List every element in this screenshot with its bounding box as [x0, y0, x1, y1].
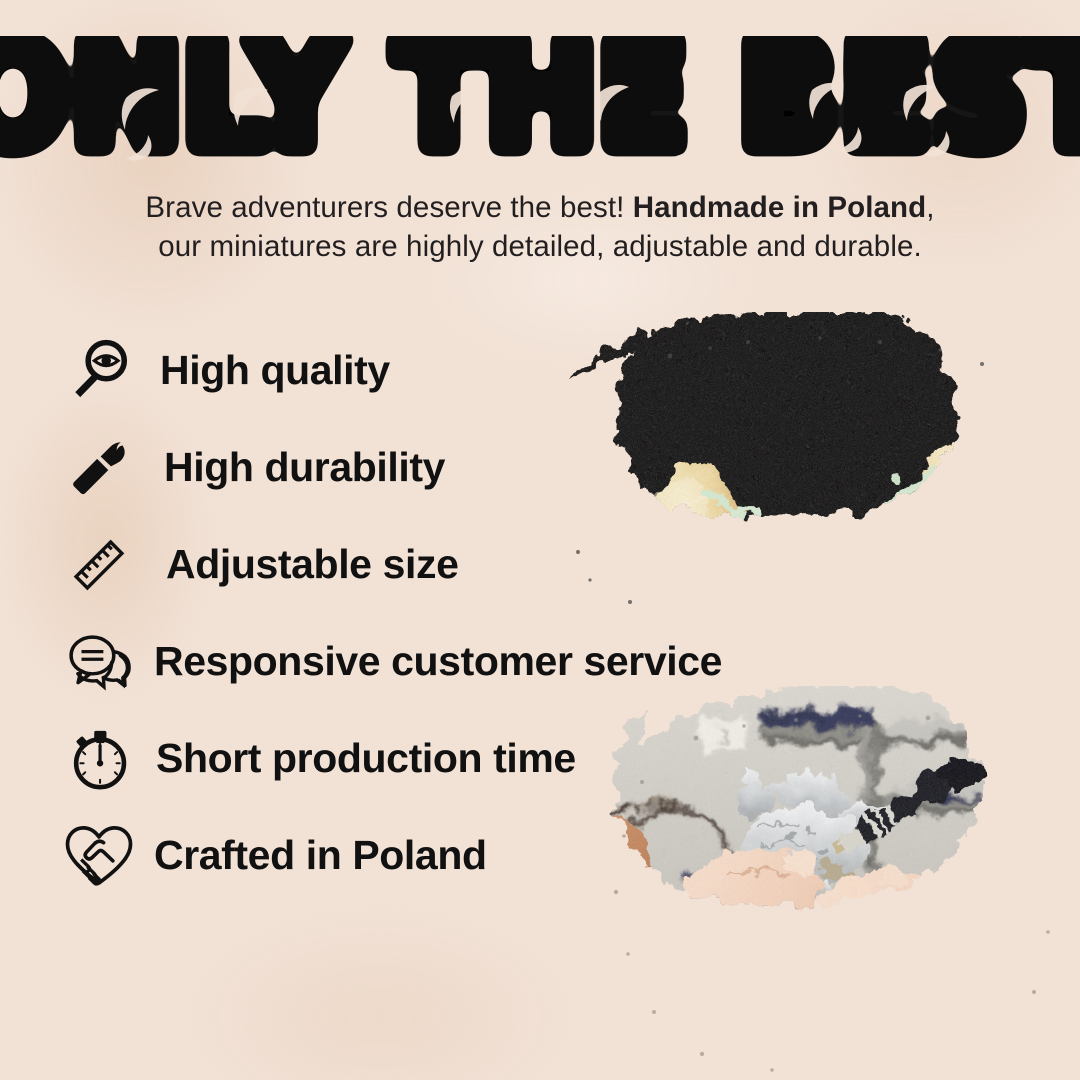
subtitle-comma: ,: [926, 191, 934, 224]
subtitle-line1-plain: Brave adventurers deserve the best!: [145, 191, 624, 224]
subtitle: Brave adventurers deserve the best! Hand…: [60, 188, 1020, 266]
feature-label: Responsive customer service: [154, 638, 722, 685]
feature-label: Crafted in Poland: [154, 832, 487, 879]
subtitle-line1-bold: Handmade in Poland: [633, 191, 927, 224]
painting-workshop-photo: [576, 686, 1080, 1080]
chat-bubbles-icon: [56, 619, 142, 705]
heart-handshake-icon: [56, 813, 142, 899]
feature-label: High durability: [164, 444, 445, 491]
flexible-miniature-photo: [520, 312, 1080, 634]
subtitle-line2: our miniatures are highly detailed, adju…: [158, 230, 922, 263]
feature-label: Short production time: [156, 735, 576, 782]
svg-text:ONLY THE BEST: ONLY THE BEST: [0, 36, 1080, 176]
paper-texture-blotch: [120, 900, 640, 1080]
hammer-icon: [56, 425, 142, 511]
stopwatch-icon: [56, 716, 142, 802]
infographic-canvas: ONLY THE BEST Brave adventurers deserve …: [0, 0, 1080, 1080]
magnifier-eye-icon: [56, 328, 142, 414]
feature-label: Adjustable size: [166, 541, 458, 588]
ruler-icon: [56, 522, 142, 608]
page-title: ONLY THE BEST: [0, 36, 1080, 176]
feature-label: High quality: [160, 347, 390, 394]
